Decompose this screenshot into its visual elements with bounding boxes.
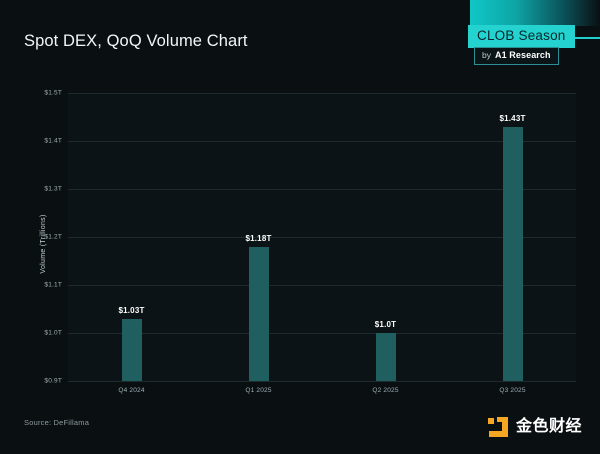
publisher-logo: 金色财经 [487, 416, 582, 438]
bar-value-label: $1.0T [375, 320, 396, 329]
x-axis-tick-label: Q3 2025 [499, 387, 525, 394]
y-axis-tick-label: $0.9T [0, 378, 62, 385]
badge-org-label: A1 Research [495, 50, 551, 61]
bar[interactable] [249, 247, 269, 381]
bar-slot [68, 93, 195, 381]
bar-value-label: $1.03T [118, 306, 144, 315]
plot-area [68, 93, 576, 381]
y-axis-tick-label: $1.1T [0, 282, 62, 289]
bar-value-label: $1.18T [245, 234, 271, 243]
y-axis-tick-label: $1.2T [0, 234, 62, 241]
badge-title: CLOB Season [468, 25, 575, 48]
footer: Source: DeFillama 金色财经 [0, 404, 600, 454]
publisher-name: 金色财经 [516, 419, 582, 435]
badge-glow-bar [470, 0, 600, 26]
bar[interactable] [503, 127, 523, 381]
bar[interactable] [376, 333, 396, 381]
y-axis-title: Volume (Trillions) [40, 214, 47, 273]
brand-badge: CLOB Season by A1 Research [440, 0, 600, 76]
page-title: Spot DEX, QoQ Volume Chart [24, 32, 248, 51]
source-label: Source: DeFillama [24, 418, 89, 427]
y-axis-tick-label: $1.5T [0, 90, 62, 97]
y-axis-tick-label: $1.4T [0, 138, 62, 145]
y-axis-tick-label: $1.3T [0, 186, 62, 193]
y-axis-tick-label: $1.0T [0, 330, 62, 337]
bar-chart: Volume (Trillions) $0.9T$1.0T$1.1T$1.2T$… [0, 84, 600, 404]
header: Spot DEX, QoQ Volume Chart CLOB Season b… [0, 0, 600, 84]
badge-by-label: by [482, 50, 491, 60]
bar[interactable] [122, 319, 142, 381]
publisher-mark-icon [487, 416, 509, 438]
x-axis-tick-label: Q2 2025 [372, 387, 398, 394]
x-axis-tick-label: Q4 2024 [118, 387, 144, 394]
badge-attribution: by A1 Research [474, 47, 559, 65]
bar-value-label: $1.43T [499, 114, 525, 123]
gridline [68, 381, 576, 382]
bar-slot [449, 93, 576, 381]
x-axis-tick-label: Q1 2025 [245, 387, 271, 394]
bar-slot [322, 93, 449, 381]
